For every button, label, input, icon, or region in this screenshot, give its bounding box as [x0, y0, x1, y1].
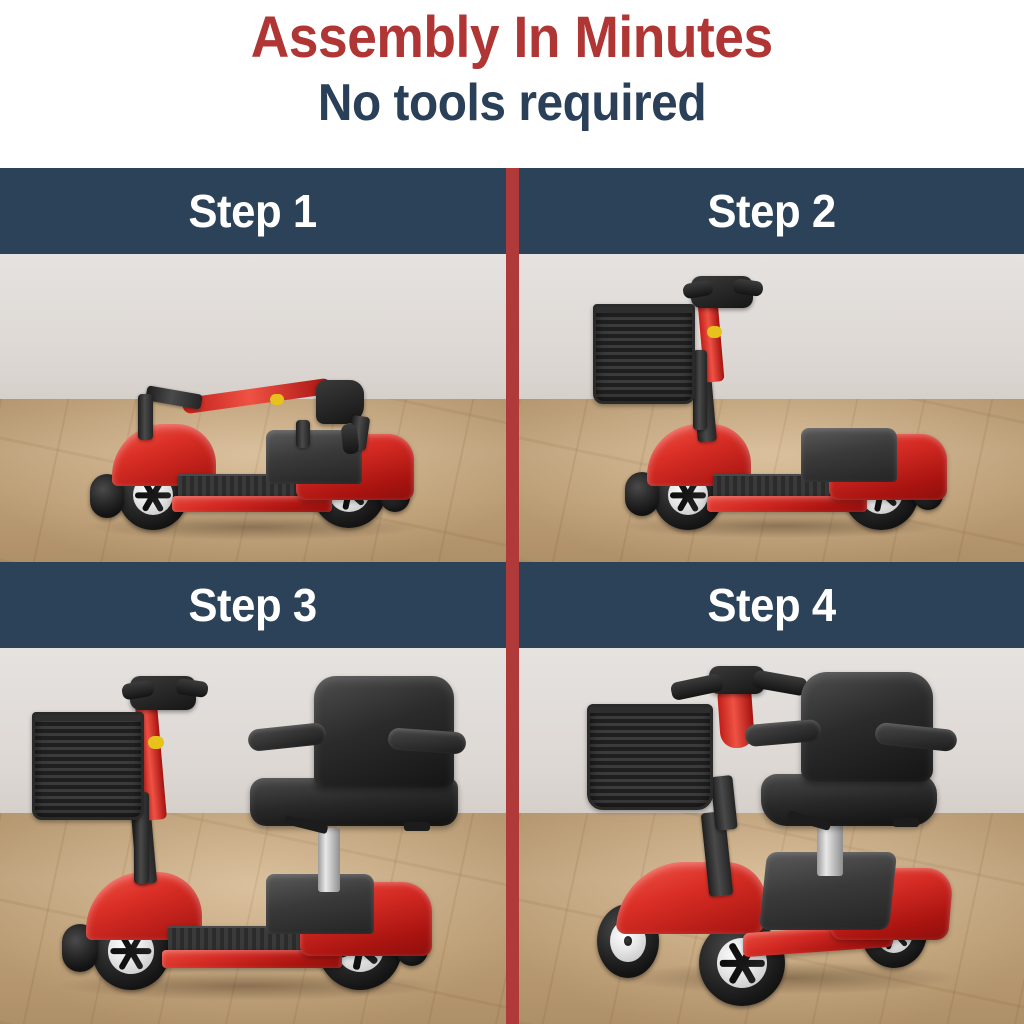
seat-post	[318, 828, 340, 892]
battery-box	[801, 428, 897, 482]
step-1-header: Step 1	[0, 168, 506, 254]
steps-grid: Step 1	[0, 168, 1024, 1024]
front-fender	[615, 862, 771, 934]
front-basket	[593, 304, 695, 404]
scooter-complete-illustration	[575, 656, 995, 1014]
scooter-folded-illustration	[60, 328, 460, 548]
step-3-photo	[0, 648, 506, 1024]
step-2-photo	[519, 254, 1024, 562]
tiller-folded	[182, 378, 333, 415]
page-subtitle: No tools required	[318, 75, 706, 131]
step-3-label: Step 3	[189, 578, 317, 632]
tiller-stem	[138, 394, 153, 440]
header: Assembly In Minutes No tools required	[0, 0, 1024, 168]
step-card-3[interactable]: Step 3	[0, 562, 506, 1024]
step-2-label: Step 2	[707, 184, 835, 238]
scooter-tiller-up-illustration	[575, 264, 985, 549]
step-card-1[interactable]: Step 1	[0, 168, 506, 562]
scooter-with-seat-illustration	[18, 660, 496, 1012]
step-4-photo	[519, 648, 1024, 1024]
step-card-2[interactable]: Step 2	[519, 168, 1024, 562]
front-basket	[32, 712, 144, 820]
step-4-header: Step 4	[519, 562, 1024, 648]
step-1-photo	[0, 254, 506, 562]
step-4-label: Step 4	[707, 578, 835, 632]
assembly-infographic: Assembly In Minutes No tools required St…	[0, 0, 1024, 1024]
step-2-header: Step 2	[519, 168, 1024, 254]
step-3-header: Step 3	[0, 562, 506, 648]
front-basket	[587, 704, 713, 810]
page-title: Assembly In Minutes	[251, 8, 773, 69]
handle-grip-left	[670, 673, 725, 701]
step-card-4[interactable]: Step 4	[519, 562, 1024, 1024]
step-1-label: Step 1	[189, 184, 317, 238]
